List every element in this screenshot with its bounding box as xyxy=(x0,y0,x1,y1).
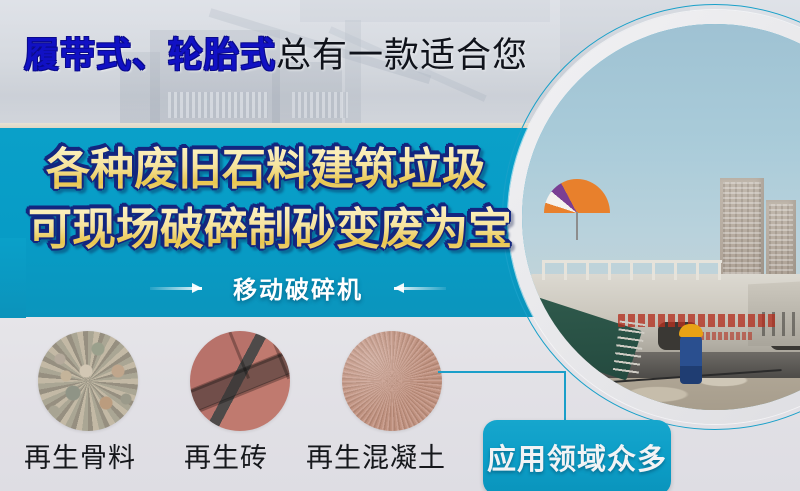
machine-grille-left xyxy=(168,92,268,118)
promo-banner: 履带式、轮胎式总有一款适合您 各种废旧石料建筑垃圾 可现场破碎制砂变废为宝 移动… xyxy=(0,0,800,491)
product-photo-concrete xyxy=(342,331,442,431)
photo-clip xyxy=(522,24,800,410)
machine-beam-silhouette xyxy=(300,0,550,22)
worker-helmet xyxy=(679,324,703,337)
connector-line-vertical xyxy=(564,371,566,423)
main-headline-line1: 各种废旧石料建筑垃圾 xyxy=(46,144,486,196)
machine-grille-right xyxy=(292,92,348,118)
parasol-pole xyxy=(576,212,578,240)
main-headline-line2: 可现场破碎制砂变废为宝 xyxy=(28,204,512,256)
top-headline-rest: 总有一款适合您 xyxy=(276,36,528,75)
application-badge[interactable]: 应用领域众多 xyxy=(483,420,671,491)
connector-line-horizontal xyxy=(438,371,566,373)
product-photo-aggregate xyxy=(38,331,138,431)
product-label-aggregate: 再生骨料 xyxy=(24,436,136,475)
hero-photo-circle xyxy=(522,24,800,410)
subtitle-row: 移动破碎机 xyxy=(0,270,596,305)
top-headline-highlight: 履带式、轮胎式 xyxy=(24,36,276,75)
subtitle-text: 移动破碎机 xyxy=(233,270,363,305)
application-badge-label: 应用领域众多 xyxy=(483,436,671,478)
machine-red-phone-text xyxy=(694,332,754,340)
arrow-right-icon xyxy=(150,282,202,294)
worker-figure xyxy=(680,336,702,384)
machine-hopper xyxy=(748,276,800,346)
product-label-brick: 再生砖 xyxy=(184,436,268,475)
arrow-left-icon xyxy=(394,282,446,294)
product-photo-brick xyxy=(190,331,290,431)
product-label-concrete: 再生混凝土 xyxy=(306,436,446,475)
top-headline: 履带式、轮胎式总有一款适合您 xyxy=(24,34,528,78)
